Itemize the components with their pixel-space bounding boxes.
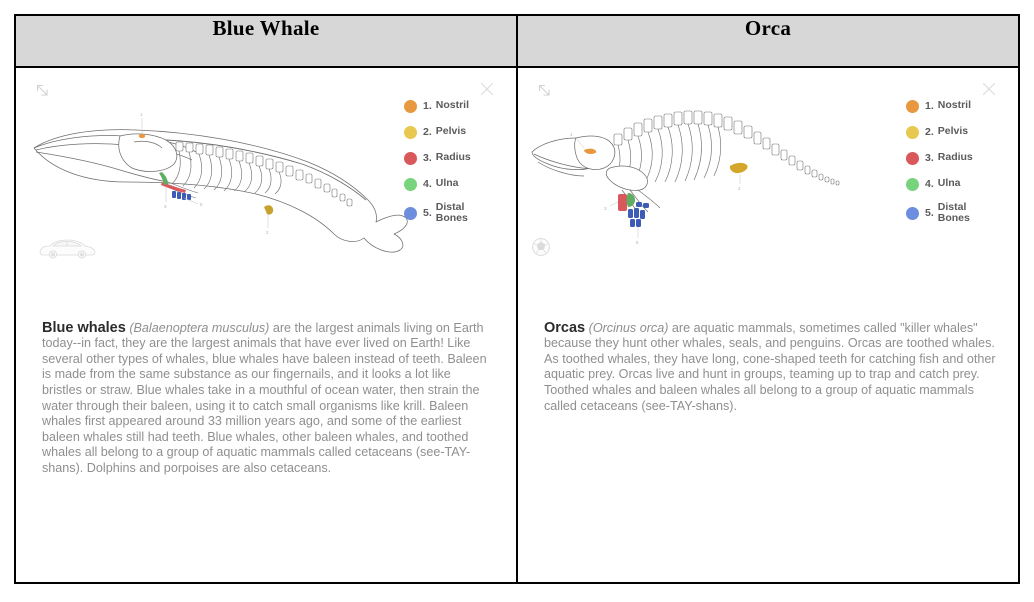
orca-panel: 1 3 5 2 [518, 68, 1018, 582]
legend-number: 5. [925, 207, 934, 219]
legend-label-nostril: Nostril [938, 100, 971, 111]
legend-item[interactable]: 3. Radius [404, 150, 500, 166]
svg-text:2: 2 [738, 186, 741, 191]
description-lead: Orcas [544, 320, 585, 336]
legend-blue-whale: 1. Nostril 2. Pelvis 3. Radius [404, 98, 500, 234]
legend-color-dot-pelvis [906, 126, 919, 139]
svg-text:1: 1 [570, 132, 573, 137]
legend-number: 3. [423, 152, 432, 164]
legend-color-dot-pelvis [404, 126, 417, 139]
svg-text:2: 2 [266, 230, 269, 235]
marker-radius [618, 194, 627, 211]
scientific-name: (Balaenoptera musculus) [129, 321, 269, 335]
legend-item[interactable]: 1. Nostril [404, 98, 500, 114]
panel-cell-orca: 1 3 5 2 [517, 67, 1019, 583]
table-content-row: 1 3 5 2 [15, 67, 1019, 583]
scientific-name: (Orcinus orca) [589, 321, 669, 335]
svg-text:5: 5 [200, 202, 203, 207]
svg-text:5: 5 [636, 240, 639, 245]
legend-color-dot-nostril [404, 100, 417, 113]
legend-label-ulna: Ulna [436, 178, 459, 189]
marker-nostril [139, 134, 145, 138]
legend-label-nostril: Nostril [436, 100, 469, 111]
legend-number: 3. [925, 152, 934, 164]
legend-item[interactable]: 2. Pelvis [906, 124, 1002, 140]
legend-color-dot-ulna [404, 178, 417, 191]
whale-comparison-table: Blue Whale Orca [14, 14, 1020, 584]
svg-text:3: 3 [604, 206, 607, 211]
panel-cell-blue-whale: 1 3 5 2 [15, 67, 517, 583]
close-icon[interactable] [980, 80, 998, 98]
description-lead: Blue whales [42, 320, 126, 336]
soccer-ball [533, 239, 550, 256]
car-silhouette [40, 240, 95, 258]
description-body: are the largest animals living on Earth … [42, 321, 487, 475]
orca-skeleton-diagram: 1 3 5 2 [518, 90, 918, 290]
legend-label-radius: Radius [436, 152, 471, 163]
table-header-row: Blue Whale Orca [15, 15, 1019, 67]
legend-item[interactable]: 4. Ulna [906, 176, 1002, 192]
legend-color-dot-radius [404, 152, 417, 165]
legend-color-dot-distal-bones [404, 207, 417, 220]
legend-item[interactable]: 5. Distal Bones [906, 202, 1002, 224]
legend-number: 1. [925, 100, 934, 112]
legend-color-dot-nostril [906, 100, 919, 113]
description-orca: Orcas (Orcinus orca) are aquatic mammals… [544, 321, 996, 415]
legend-label-pelvis: Pelvis [938, 126, 968, 137]
legend-number: 4. [423, 178, 432, 190]
legend-item[interactable]: 4. Ulna [404, 176, 500, 192]
legend-item[interactable]: 2. Pelvis [404, 124, 500, 140]
legend-number: 2. [925, 126, 934, 138]
description-blue-whale: Blue whales (Balaenoptera musculus) are … [42, 321, 494, 477]
column-header-blue-whale: Blue Whale [15, 15, 517, 67]
legend-number: 1. [423, 100, 432, 112]
legend-label-pelvis: Pelvis [436, 126, 466, 137]
legend-color-dot-radius [906, 152, 919, 165]
legend-number: 2. [423, 126, 432, 138]
legend-label-distal-bones: Distal Bones [436, 202, 482, 224]
legend-color-dot-ulna [906, 178, 919, 191]
blue-whale-skeleton-diagram: 1 3 5 2 [16, 90, 416, 290]
comparison-page: Blue Whale Orca [0, 0, 1034, 602]
legend-orca: 1. Nostril 2. Pelvis 3. Radius [906, 98, 1002, 234]
blue-whale-panel: 1 3 5 2 [16, 68, 516, 582]
marker-pelvis [264, 205, 273, 214]
legend-number: 5. [423, 207, 432, 219]
svg-text:3: 3 [164, 204, 167, 209]
column-header-orca: Orca [517, 15, 1019, 67]
close-icon[interactable] [478, 80, 496, 98]
legend-item[interactable]: 3. Radius [906, 150, 1002, 166]
marker-pelvis [730, 163, 748, 173]
legend-item[interactable]: 5. Distal Bones [404, 202, 500, 224]
legend-item[interactable]: 1. Nostril [906, 98, 1002, 114]
legend-color-dot-distal-bones [906, 207, 919, 220]
svg-text:1: 1 [140, 112, 143, 117]
legend-label-distal-bones: Distal Bones [938, 202, 984, 224]
legend-number: 4. [925, 178, 934, 190]
legend-label-ulna: Ulna [938, 178, 961, 189]
legend-label-radius: Radius [938, 152, 973, 163]
